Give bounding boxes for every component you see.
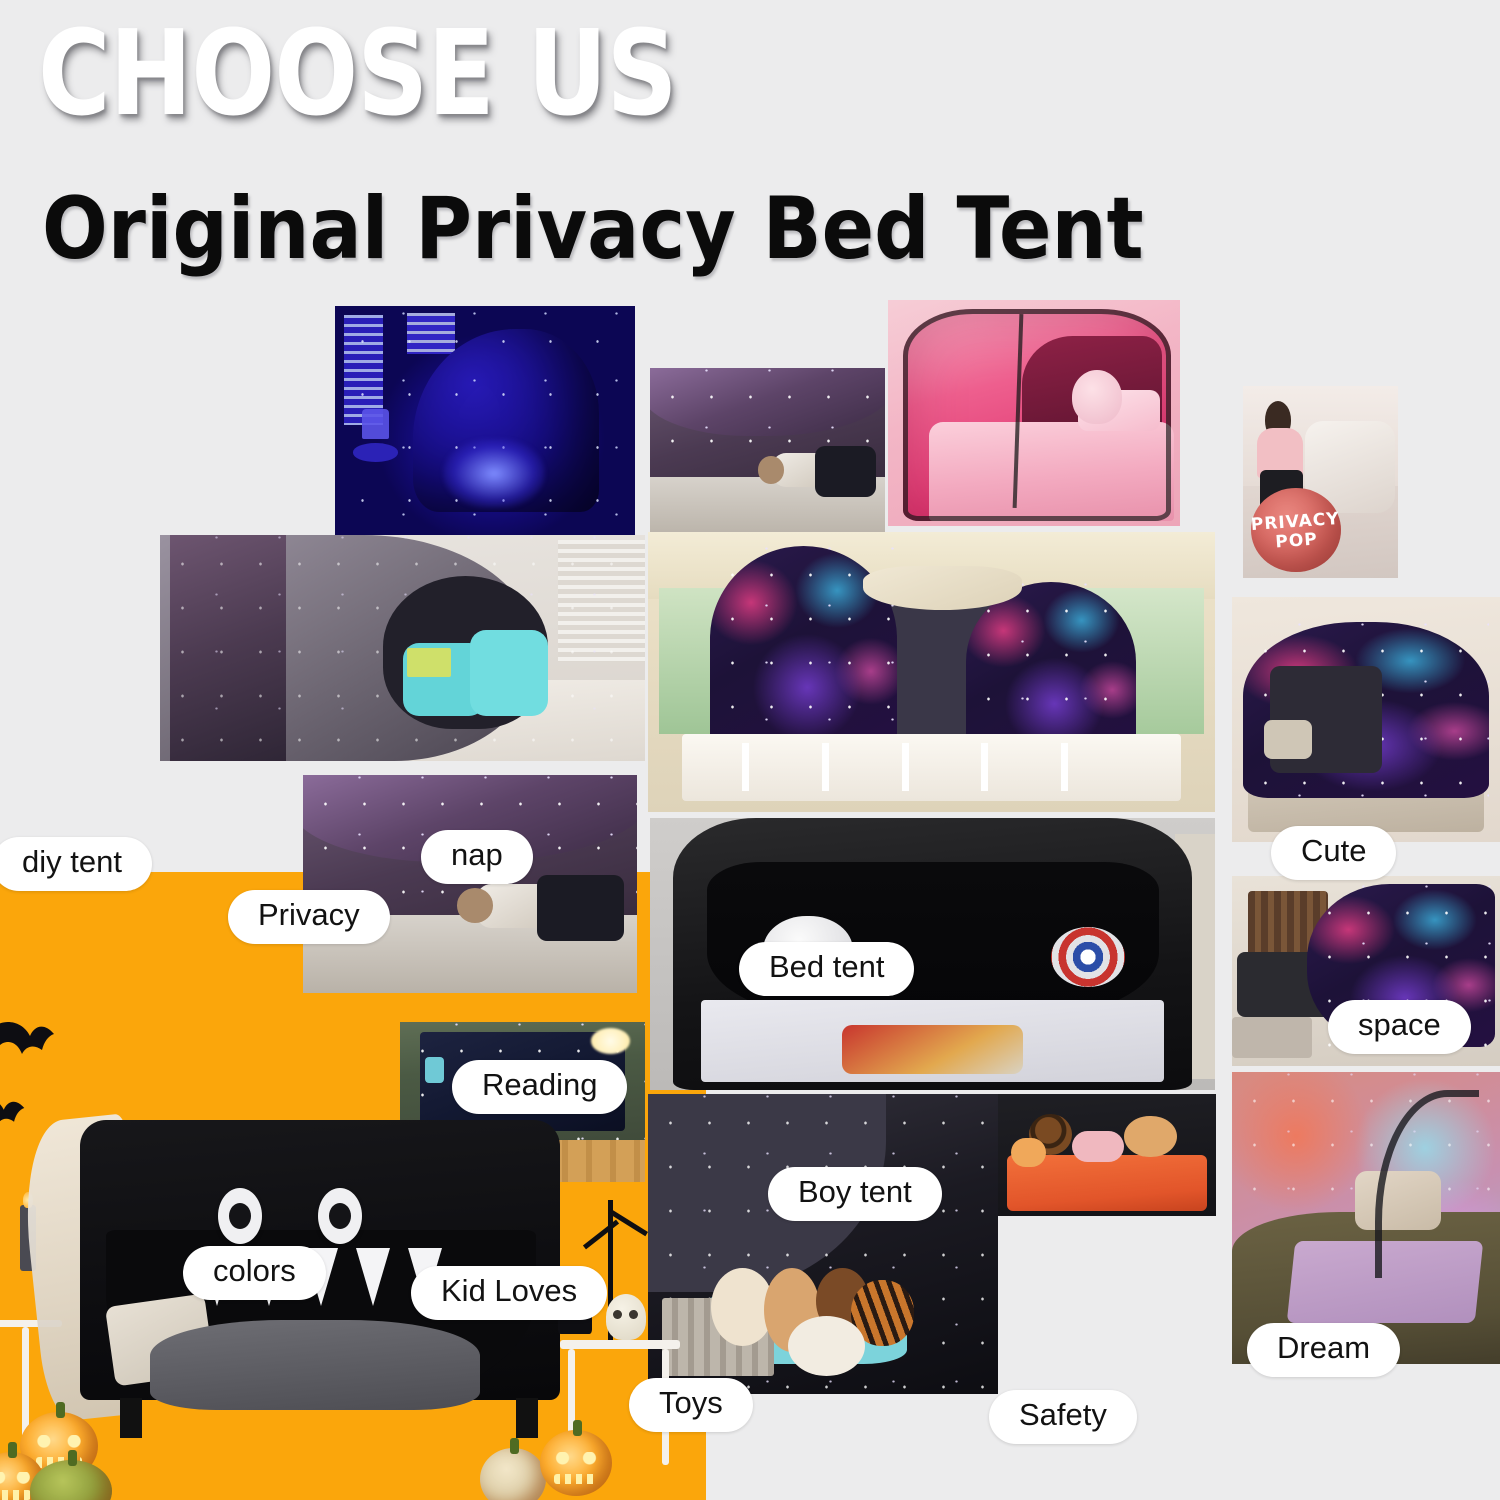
candle-stand-leg [22, 1327, 29, 1437]
label-colors[interactable]: colors [183, 1246, 326, 1300]
skull-decor [606, 1294, 646, 1340]
promo-collage: CHOOSE US Original Privacy Bed Tent [0, 0, 1500, 1500]
label-nap[interactable]: nap [421, 830, 533, 884]
label-toys[interactable]: Toys [629, 1378, 753, 1432]
bed-leg [120, 1398, 142, 1438]
bed-leg [516, 1398, 538, 1438]
plush-toy [1124, 1116, 1176, 1157]
photo-blacklight-blue-tent [335, 306, 635, 535]
jack-o-lantern [540, 1430, 612, 1496]
white-pumpkin [480, 1448, 546, 1500]
pillow [1264, 720, 1312, 759]
photo-black-bed-tent-captain-america [650, 818, 1215, 1090]
label-privacy[interactable]: Privacy [228, 890, 390, 944]
label-diy-tent[interactable]: diy tent [0, 837, 152, 891]
captain-america-pillow [1051, 927, 1124, 987]
photo-pink-privacy-tent [888, 300, 1180, 526]
photo-kids-reading-in-grey-tent [160, 535, 645, 761]
rocket-pillow [815, 446, 876, 497]
side-table [560, 1340, 680, 1349]
black-twig-decor [583, 1220, 619, 1250]
page-title: CHOOSE US [38, 14, 677, 132]
label-cute[interactable]: Cute [1271, 826, 1396, 880]
photo-girl-with-privacy-pop-bag: PRIVACYPOP [1243, 386, 1398, 578]
monster-eye-left [218, 1188, 262, 1244]
lamp [362, 409, 389, 439]
photo-nap-purple-tent [303, 775, 637, 993]
label-safety[interactable]: Safety [989, 1390, 1137, 1444]
label-bed-tent[interactable]: Bed tent [739, 942, 914, 996]
child-watching [470, 630, 548, 716]
photo-orange-mattress-safety-tent [998, 1094, 1216, 1216]
book [407, 648, 451, 677]
side-stool [353, 443, 398, 461]
page-subtitle: Original Privacy Bed Tent [42, 186, 1144, 272]
label-kid-loves[interactable]: Kid Loves [411, 1266, 607, 1320]
blanket [842, 1025, 1023, 1074]
photo-galaxy-tent-cute [1232, 597, 1500, 842]
label-dream[interactable]: Dream [1247, 1323, 1400, 1377]
plush-toy [1072, 1131, 1124, 1163]
photo-purple-constellation-tent-room [650, 368, 885, 538]
privacy-pop-carry-bag: PRIVACYPOP [1251, 488, 1341, 572]
label-space[interactable]: space [1328, 1000, 1471, 1054]
monster-eye-right [318, 1188, 362, 1244]
grey-bedding [150, 1320, 480, 1410]
rocket-pillow [537, 875, 624, 940]
plush-toy [788, 1316, 865, 1376]
photo-boy-tent-with-stuffed-animals [648, 1094, 998, 1394]
label-boy-tent[interactable]: Boy tent [768, 1167, 942, 1221]
tent-hood-right [966, 582, 1136, 756]
label-reading[interactable]: Reading [452, 1060, 627, 1114]
tent-rim [903, 309, 1172, 521]
photo-rainbow-dream-tent [1232, 1072, 1500, 1364]
glow-accent [443, 439, 545, 508]
plush-toy [758, 456, 784, 483]
side-table [1232, 1017, 1312, 1059]
monster-tooth [356, 1248, 390, 1306]
bed-guard-rail [682, 734, 1181, 801]
brand-logo-text: PRIVACYPOP [1250, 510, 1342, 554]
photo-galaxy-tent-on-bunk-bed [648, 532, 1215, 812]
plush-toy [1011, 1138, 1046, 1167]
